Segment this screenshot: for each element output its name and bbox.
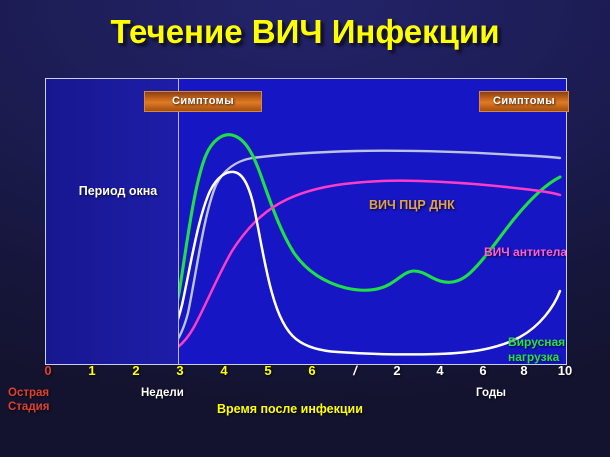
weeks-axis-caption: Недели: [141, 387, 184, 399]
window-period-text: Период окна: [79, 184, 158, 198]
x-tick-5: 5: [258, 363, 278, 378]
x-tick-year-10: 10: [555, 363, 575, 378]
symptoms-badge-aids: Симптомы: [479, 91, 569, 112]
window-period-label: Период окна: [64, 183, 172, 199]
label-hiv-antibodies: ВИЧ антитела: [484, 245, 567, 260]
x-tick-4: 4: [214, 363, 234, 378]
x-axis-title: Время после инфекции: [217, 402, 363, 416]
label-viral-load: Вирусная нагрузка: [508, 335, 565, 365]
x-tick-year-8: 8: [514, 363, 534, 378]
label-hiv-pcr-dna: ВИЧ ПЦР ДНК: [369, 198, 455, 213]
window-period-region: [46, 79, 178, 364]
years-axis-caption: Годы: [476, 387, 506, 399]
x-tick-year-4: 4: [430, 363, 450, 378]
window-period-divider: [178, 79, 179, 364]
acute-stage-caption: Острая Стадия: [8, 386, 49, 414]
x-tick-year-2: 2: [387, 363, 407, 378]
acute-stage-line2: Стадия: [8, 400, 49, 414]
x-tick-separator: /: [345, 363, 365, 378]
x-tick-year-6: 6: [473, 363, 493, 378]
page-title: Течение ВИЧ Инфекции: [0, 13, 610, 51]
x-tick-0: 0: [38, 363, 58, 378]
chart-plot-area: Период окна ВИЧ ПЦР ДНК ВИЧ антитела Вир…: [45, 78, 567, 365]
x-tick-2: 2: [126, 363, 146, 378]
x-tick-1: 1: [82, 363, 102, 378]
x-axis-ticks: 0 1 2 3 4 5 6 / 2 4 6 8 10: [0, 363, 610, 383]
slide-root: Течение ВИЧ Инфекции Период окна ВИЧ ПЦР…: [0, 0, 610, 457]
acute-stage-line1: Острая: [8, 386, 49, 400]
x-tick-6: 6: [302, 363, 322, 378]
symptoms-badge-acute: Симптомы: [144, 91, 262, 112]
x-tick-3: 3: [170, 363, 190, 378]
label-viral-load-line1: Вирусная: [508, 335, 565, 350]
